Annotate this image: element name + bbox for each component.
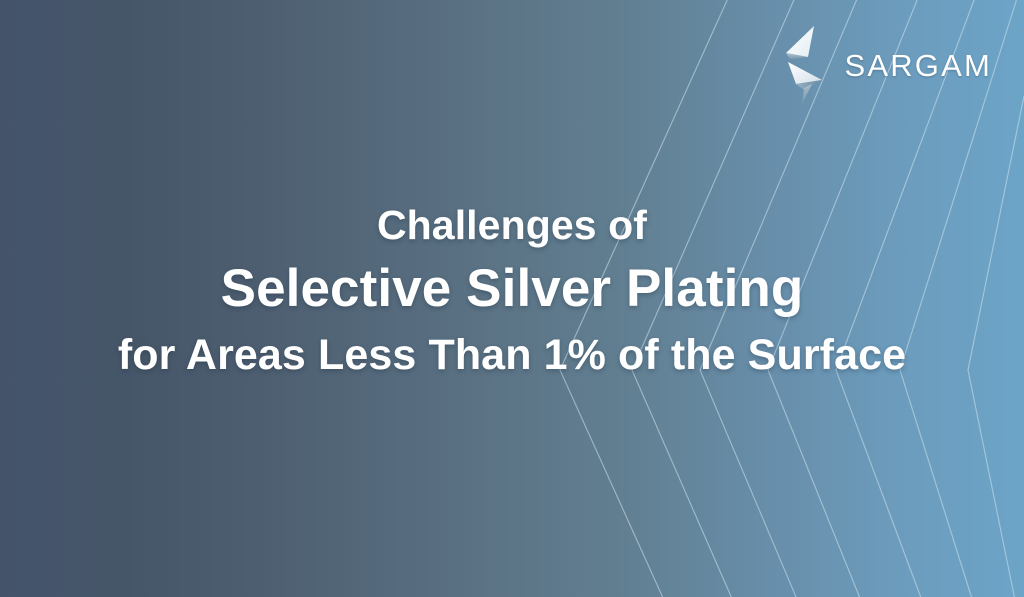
sargam-wordmark: SARGAM (844, 50, 992, 81)
sargam-logo: SARGAM (778, 24, 992, 106)
logo-facet-upper (786, 26, 814, 57)
title-slide: SARGAM Challenges of Selective Silver Pl… (0, 0, 1024, 597)
sargam-arrow-mark-icon (778, 24, 830, 106)
title-line-3: for Areas Less Than 1% of the Surface (24, 324, 1000, 386)
title-line-2: Selective Silver Plating (24, 254, 1000, 324)
slide-title-block: Challenges of Selective Silver Plating f… (0, 196, 1024, 386)
title-line-1: Challenges of (24, 196, 1000, 254)
logo-facet-lower (788, 62, 822, 84)
